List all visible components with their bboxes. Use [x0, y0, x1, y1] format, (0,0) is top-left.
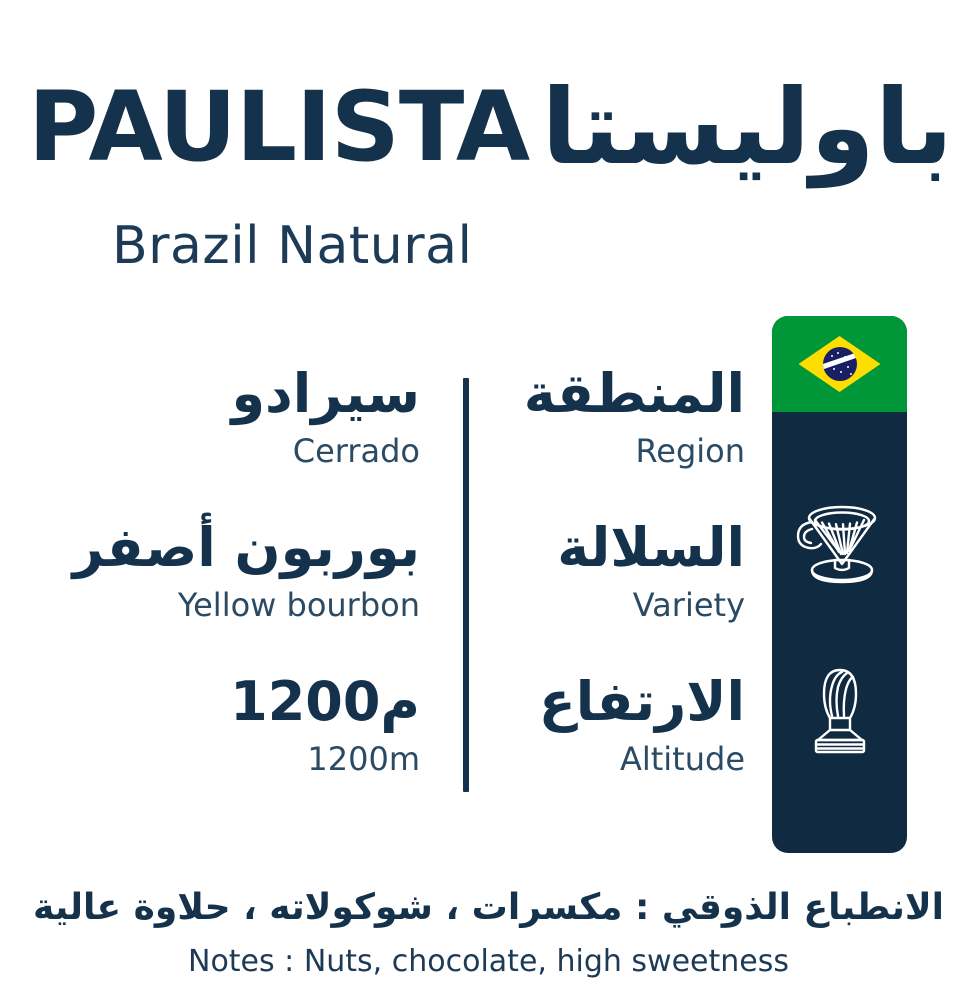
spec-value-altitude: 1200م 1200m [0, 672, 420, 820]
spec-value-variety-arabic: بوربون أصفر [73, 518, 420, 578]
coffee-label-card: PAULISTA باوليستا Brazil Natural سيرادو … [0, 0, 977, 1000]
spec-value-region-english: Cerrado [293, 432, 420, 470]
espresso-tamper-icon [788, 656, 892, 760]
tasting-notes-arabic: الانطباع الذوقي : مكسرات ، شوكولاته ، حل… [0, 885, 977, 930]
spec-label-region-arabic: المنطقة [524, 364, 745, 424]
tasting-notes: الانطباع الذوقي : مكسرات ، شوكولاته ، حل… [0, 885, 977, 981]
spec-label-altitude: الارتفاع Altitude [420, 672, 745, 820]
side-panel [772, 316, 907, 853]
spec-row-region: سيرادو Cerrado المنطقة Region [0, 364, 745, 512]
spec-label-variety-arabic: السلالة [557, 518, 745, 578]
spec-value-region-arabic: سيرادو [231, 364, 420, 424]
spec-label-altitude-english: Altitude [620, 740, 745, 778]
spec-value-altitude-english: 1200m [307, 740, 420, 778]
spec-label-altitude-arabic: الارتفاع [539, 672, 745, 732]
brazil-flag-icon [772, 316, 907, 412]
product-title-latin: PAULISTA [28, 79, 529, 175]
tasting-notes-english: Notes : Nuts, chocolate, high sweetness [0, 942, 977, 981]
spec-row-altitude: 1200م 1200m الارتفاع Altitude [0, 672, 745, 820]
spec-value-variety-english: Yellow bourbon [178, 586, 420, 624]
header: PAULISTA باوليستا Brazil Natural [0, 0, 977, 300]
spec-label-variety: السلالة Variety [420, 518, 745, 666]
spec-label-variety-english: Variety [633, 586, 745, 624]
spec-value-region: سيرادو Cerrado [0, 364, 420, 512]
spec-value-variety: بوربون أصفر Yellow bourbon [0, 518, 420, 666]
spec-value-altitude-arabic: 1200م [230, 672, 420, 732]
spec-label-region: المنطقة Region [420, 364, 745, 512]
pour-over-dripper-icon [788, 488, 892, 592]
product-subtitle: Brazil Natural [112, 216, 472, 276]
spec-label-region-english: Region [635, 432, 745, 470]
spec-row-variety: بوربون أصفر Yellow bourbon السلالة Varie… [0, 518, 745, 666]
product-title-arabic: باوليستا [541, 69, 953, 185]
flag-globe [823, 347, 857, 381]
title-row: PAULISTA باوليستا [28, 62, 953, 192]
